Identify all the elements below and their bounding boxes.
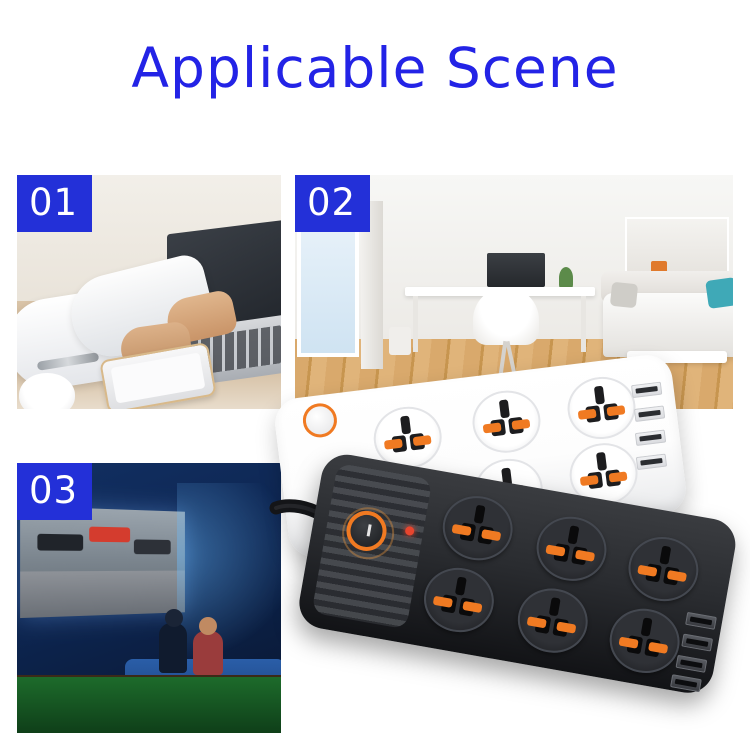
- race-car-b: [89, 527, 130, 543]
- desk-leg-left: [413, 296, 418, 352]
- desk-monitor: [487, 253, 545, 287]
- desk-leg-right: [581, 296, 586, 352]
- race-car-a: [37, 534, 83, 551]
- scene-card-01: 01: [14, 172, 284, 412]
- white-chair: [473, 287, 539, 345]
- viewer-child-head: [199, 617, 217, 635]
- scene-card-03: 03: [14, 460, 284, 736]
- green-rug: [17, 677, 281, 733]
- pillow-grey: [610, 282, 638, 309]
- race-car-c: [134, 539, 171, 554]
- cup: [19, 373, 75, 412]
- pillow-teal: [705, 277, 736, 309]
- scene-badge-03: 03: [17, 463, 92, 520]
- waste-bin: [389, 327, 411, 355]
- viewer-child: [193, 631, 223, 675]
- wall-shelf: [625, 217, 729, 279]
- desk-plant: [559, 267, 573, 289]
- race-track: [20, 571, 185, 619]
- viewer-adult-head: [165, 609, 183, 627]
- page-title: Applicable Scene: [0, 36, 750, 100]
- projection-screen: [20, 506, 185, 618]
- scene-badge-01: 01: [17, 175, 92, 232]
- viewer-adult: [159, 623, 187, 673]
- applicable-scene-page: Applicable Scene 01: [0, 0, 750, 750]
- scene-badge-02: 02: [295, 175, 370, 232]
